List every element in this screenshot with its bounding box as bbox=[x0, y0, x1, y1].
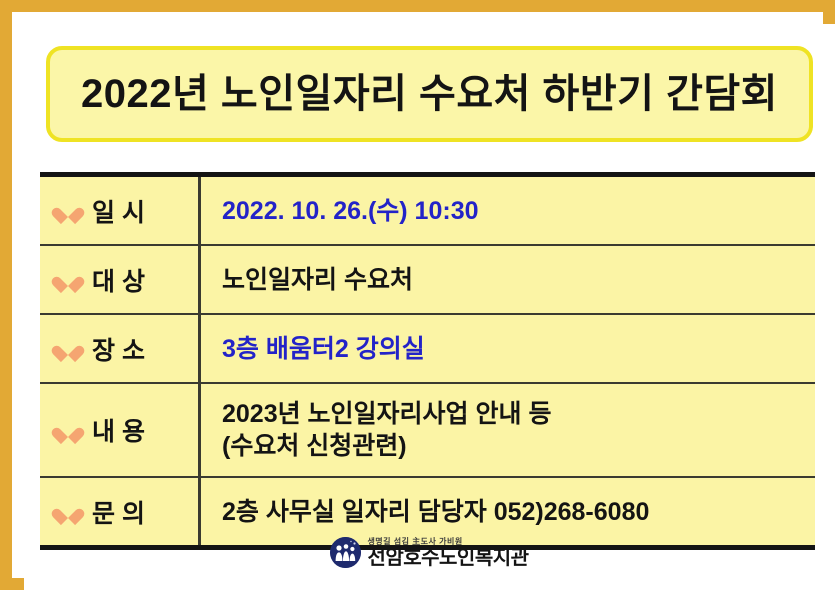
table-row: 문 의 2층 사무실 일자리 담당자 052)268-6080 bbox=[40, 478, 815, 545]
row-value: 노인일자리 수요처 bbox=[222, 264, 815, 296]
row-label-cell: 내 용 bbox=[40, 384, 201, 476]
row-label-cell: 일 시 bbox=[40, 177, 201, 244]
row-label-cell: 대 상 bbox=[40, 246, 201, 313]
row-label: 문 의 bbox=[92, 494, 145, 530]
poster-inner-area: 2022년 노인일자리 수요처 하반기 간담회 일 시 2022. 10. 26… bbox=[24, 24, 835, 590]
poster-title-box: 2022년 노인일자리 수요처 하반기 간담회 bbox=[46, 46, 813, 142]
table-row: 장 소 3층 배움터2 강의실 bbox=[40, 315, 815, 384]
organization-logo: 생명길 섬김 主도사 가비원 선암호수노인복지관 bbox=[24, 537, 835, 568]
row-label: 대 상 bbox=[92, 262, 145, 298]
row-value: 2층 사무실 일자리 담당자 052)268-6080 bbox=[222, 496, 815, 528]
heart-icon bbox=[58, 270, 78, 289]
row-label-cell: 장 소 bbox=[40, 315, 201, 382]
organization-name: 선암호수노인복지관 bbox=[367, 548, 528, 568]
heart-icon bbox=[58, 421, 78, 440]
row-value: 3층 배움터2 강의실 bbox=[222, 333, 815, 365]
table-row: 내 용 2023년 노인일자리사업 안내 등 (수요처 신청관련) bbox=[40, 384, 815, 478]
row-label: 장 소 bbox=[92, 331, 145, 367]
row-value: 2022. 10. 26.(수) 10:30 bbox=[222, 195, 815, 227]
row-label-cell: 문 의 bbox=[40, 478, 201, 545]
row-value-line-1: 2023년 노인일자리사업 안내 등 bbox=[222, 398, 815, 430]
people-circle-logo-icon bbox=[330, 537, 361, 568]
row-value-cell: 노인일자리 수요처 bbox=[201, 246, 815, 313]
row-value-cell: 2022. 10. 26.(수) 10:30 bbox=[201, 177, 815, 244]
event-info-table: 일 시 2022. 10. 26.(수) 10:30 대 상 노인일자리 수요처 bbox=[40, 172, 815, 550]
logo-tagline: 생명길 섬김 主도사 가비원 bbox=[367, 538, 528, 546]
row-value-cell: 2층 사무실 일자리 담당자 052)268-6080 bbox=[201, 478, 815, 545]
table-row: 일 시 2022. 10. 26.(수) 10:30 bbox=[40, 177, 815, 246]
heart-icon bbox=[58, 339, 78, 358]
logo-wordmark: 생명길 섬김 主도사 가비원 선암호수노인복지관 bbox=[367, 538, 528, 568]
row-label: 내 용 bbox=[92, 412, 145, 448]
heart-icon bbox=[58, 201, 78, 220]
row-value-cell: 2023년 노인일자리사업 안내 등 (수요처 신청관련) bbox=[201, 384, 815, 476]
row-label: 일 시 bbox=[92, 193, 145, 229]
poster-outer-frame: 2022년 노인일자리 수요처 하반기 간담회 일 시 2022. 10. 26… bbox=[0, 0, 835, 590]
heart-icon bbox=[58, 502, 78, 521]
row-value-line-2: (수요처 신청관련) bbox=[222, 430, 815, 462]
table-row: 대 상 노인일자리 수요처 bbox=[40, 246, 815, 315]
row-value-cell: 3층 배움터2 강의실 bbox=[201, 315, 815, 382]
page-title: 2022년 노인일자리 수요처 하반기 간담회 bbox=[81, 74, 778, 114]
